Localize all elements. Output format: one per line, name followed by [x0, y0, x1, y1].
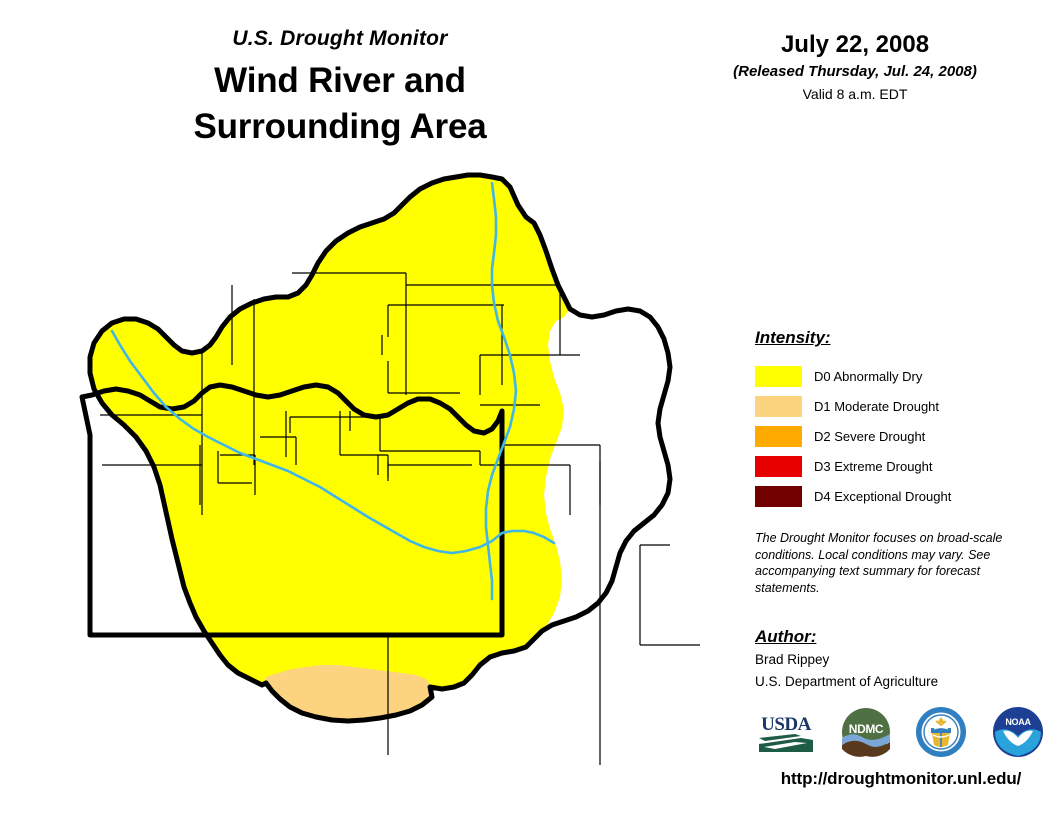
disclaimer-text: The Drought Monitor focuses on broad-sca…: [755, 530, 1023, 596]
commerce-seal-logo[interactable]: [914, 705, 968, 764]
noaa-logo[interactable]: NOAA: [991, 705, 1045, 764]
legend-item-d2[interactable]: D2 Severe Drought: [755, 421, 1045, 451]
legend-item-d3[interactable]: D3 Extreme Drought: [755, 451, 1045, 481]
author-agency: U.S. Department of Agriculture: [755, 672, 1045, 691]
usda-logo[interactable]: USDA: [755, 709, 817, 760]
legend-item-d1[interactable]: D1 Moderate Drought: [755, 391, 1045, 421]
page-title-line-2: Surrounding Area: [60, 104, 620, 150]
legend-swatch-d2: [755, 426, 802, 447]
ndmc-logo[interactable]: NDMC: [840, 706, 892, 763]
svg-text:USDA: USDA: [761, 714, 812, 735]
legend-list: D0 Abnormally Dry D1 Moderate Drought D2…: [755, 361, 1045, 511]
svg-text:NDMC: NDMC: [848, 722, 883, 736]
site-url[interactable]: http://droughtmonitor.unl.edu/: [755, 769, 1047, 789]
legend-label-d2: D2 Severe Drought: [814, 430, 925, 443]
valid-date: July 22, 2008: [690, 32, 1020, 58]
drought-monitor-supertitle: U.S. Drought Monitor: [60, 28, 620, 49]
legend-swatch-d3: [755, 456, 802, 477]
legend-label-d3: D3 Extreme Drought: [814, 460, 933, 473]
legend-label-d4: D4 Exceptional Drought: [814, 490, 951, 503]
map-svg: [40, 165, 720, 795]
title-block: U.S. Drought Monitor Wind River and Surr…: [60, 28, 620, 150]
date-block: July 22, 2008 (Released Thursday, Jul. 2…: [690, 32, 1020, 102]
legend-item-d4[interactable]: D4 Exceptional Drought: [755, 481, 1045, 511]
author-heading: Author:: [755, 627, 1045, 647]
released-date: (Released Thursday, Jul. 24, 2008): [690, 64, 1020, 81]
valid-time: Valid 8 a.m. EDT: [690, 87, 1020, 102]
wind-river-drought-map[interactable]: [40, 165, 720, 795]
svg-text:NOAA: NOAA: [1005, 717, 1031, 727]
legend-label-d0: D0 Abnormally Dry: [814, 370, 922, 383]
side-panel: Intensity: D0 Abnormally Dry D1 Moderate…: [755, 328, 1045, 691]
page-title-line-1: Wind River and: [60, 58, 620, 104]
legend-item-d0[interactable]: D0 Abnormally Dry: [755, 361, 1045, 391]
legend-swatch-d0: [755, 366, 802, 387]
legend-swatch-d4: [755, 486, 802, 507]
legend-label-d1: D1 Moderate Drought: [814, 400, 939, 413]
drought-region-d0: [90, 175, 570, 689]
logo-row: USDA NDMC: [755, 702, 1045, 766]
author-name: Brad Rippey: [755, 650, 1045, 669]
legend-swatch-d1: [755, 396, 802, 417]
intensity-heading: Intensity:: [755, 328, 1045, 348]
